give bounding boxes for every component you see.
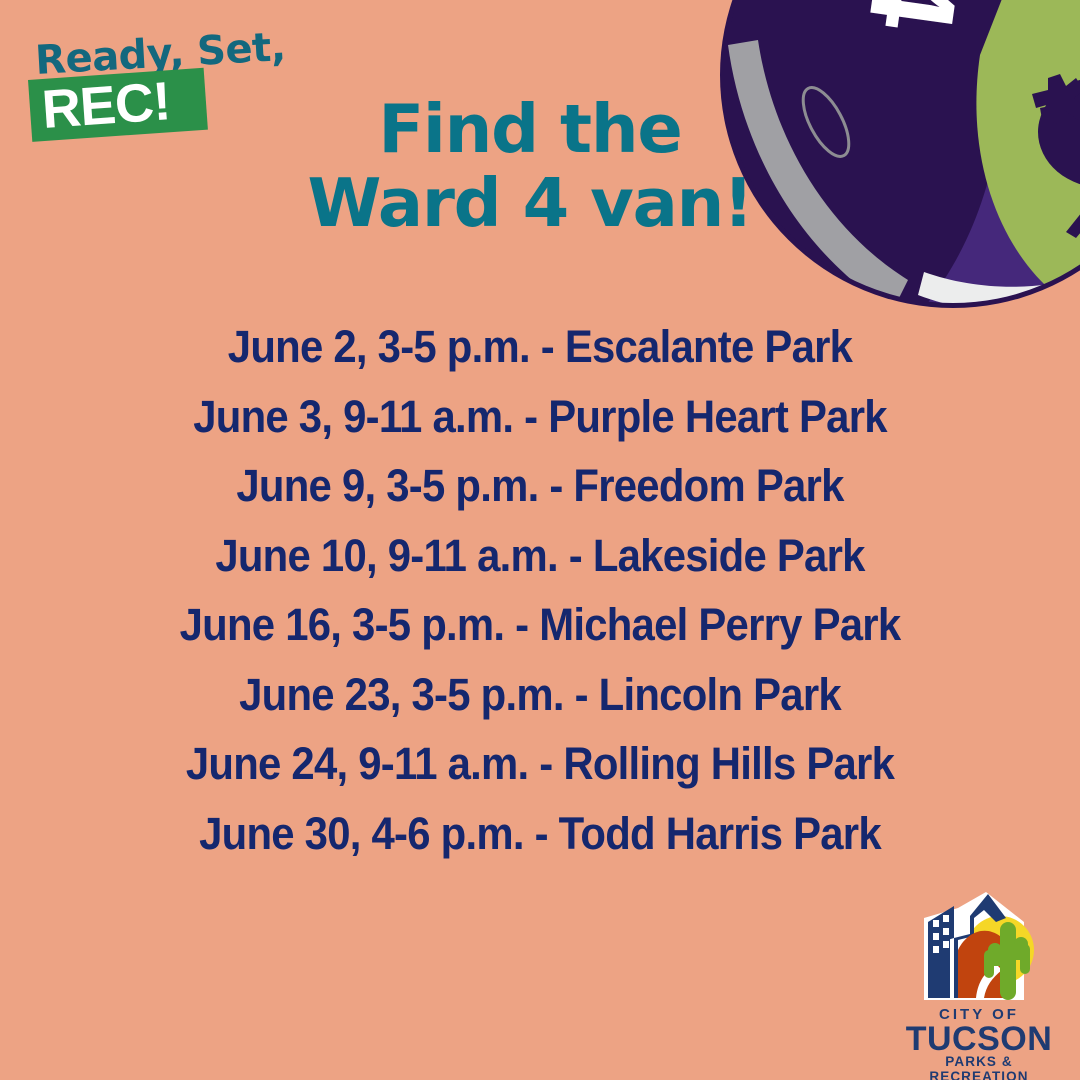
svg-text:4: 4: [843, 0, 985, 39]
event-list-item: June 9, 3-5 p.m. - Freedom Park: [38, 451, 1042, 521]
page-title-line-2: Ward 4 van!: [180, 166, 880, 240]
city-logo-line-main: TUCSON: [896, 1022, 1062, 1056]
poster-canvas: Ready, Set, REC! Find the Ward 4 van!: [0, 0, 1080, 1080]
page-title-line-1: Find the: [180, 92, 880, 166]
ward-number: 4: [843, 0, 985, 39]
rec-wordmark: REC!: [40, 71, 172, 140]
event-list-item: June 10, 9-11 a.m. - Lakeside Park: [38, 521, 1042, 591]
event-list-item: June 23, 3-5 p.m. - Lincoln Park: [38, 660, 1042, 730]
city-logo-line-bottom: PARKS & RECREATION: [896, 1054, 1062, 1080]
event-list-item: June 30, 4-6 p.m. - Todd Harris Park: [38, 799, 1042, 869]
event-list-item: June 24, 9-11 a.m. - Rolling Hills Park: [38, 729, 1042, 799]
event-schedule-list: June 2, 3-5 p.m. - Escalante Park June 3…: [0, 312, 1080, 868]
page-title: Find the Ward 4 van!: [180, 92, 880, 240]
event-list-item: June 3, 9-11 a.m. - Purple Heart Park: [38, 382, 1042, 452]
tree-silhouette: [1032, 74, 1080, 240]
tucson-emblem-icon: [914, 888, 1044, 1004]
event-list-item: June 16, 3-5 p.m. - Michael Perry Park: [38, 590, 1042, 660]
event-list-item: June 2, 3-5 p.m. - Escalante Park: [38, 312, 1042, 382]
city-of-tucson-logo: CITY OF TUCSON PARKS & RECREATION: [896, 888, 1062, 1068]
